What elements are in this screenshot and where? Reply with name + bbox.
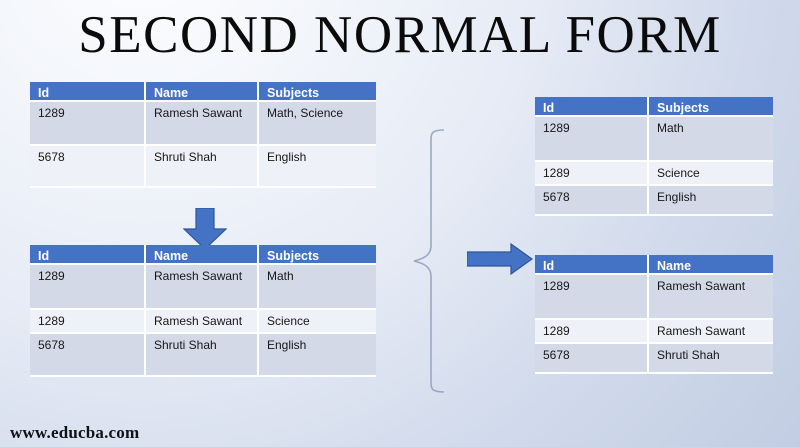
cell-id: 1289 (30, 309, 145, 333)
table-header-row: Id Name Subjects (30, 245, 376, 264)
cell-id: 5678 (535, 185, 648, 215)
cell-id: 1289 (30, 101, 145, 145)
cell-name: Shruti Shah (648, 343, 773, 373)
slide-canvas: SECOND NORMAL FORM Id Name Subjects 1289… (0, 0, 800, 447)
cell-subjects: Math, Science (258, 101, 376, 145)
table-row: 5678 English (535, 185, 773, 215)
column-header-id: Id (535, 255, 648, 274)
table-row: 1289 Ramesh Sawant Math, Science (30, 101, 376, 145)
table-row: 1289 Math (535, 116, 773, 161)
cell-id: 5678 (30, 333, 145, 376)
table-names: Id Name 1289 Ramesh Sawant 1289 Ramesh S… (535, 255, 773, 374)
cell-subjects: Science (648, 161, 773, 185)
cell-id: 1289 (535, 274, 648, 319)
cell-subjects: Math (258, 264, 376, 309)
table-row: 5678 Shruti Shah English (30, 333, 376, 376)
table-row: 1289 Ramesh Sawant (535, 274, 773, 319)
cell-id: 5678 (535, 343, 648, 373)
table-row: 5678 Shruti Shah English (30, 145, 376, 187)
table-subjects: Id Subjects 1289 Math 1289 Science 5678 … (535, 97, 773, 216)
table-original: Id Name Subjects 1289 Ramesh Sawant Math… (30, 82, 376, 188)
cell-name: Ramesh Sawant (648, 274, 773, 319)
cell-subjects: English (258, 333, 376, 376)
column-header-id: Id (30, 82, 145, 101)
table-header-row: Id Name Subjects (30, 82, 376, 101)
cell-name: Ramesh Sawant (145, 309, 258, 333)
column-header-subjects: Subjects (258, 82, 376, 101)
cell-subjects: Math (648, 116, 773, 161)
cell-id: 1289 (30, 264, 145, 309)
cell-id: 1289 (535, 161, 648, 185)
cell-name: Ramesh Sawant (145, 264, 258, 309)
table-row: 1289 Science (535, 161, 773, 185)
cell-name: Ramesh Sawant (648, 319, 773, 343)
table-header-row: Id Subjects (535, 97, 773, 116)
arrow-right-icon (467, 243, 533, 275)
table-row: 1289 Ramesh Sawant Math (30, 264, 376, 309)
page-title: SECOND NORMAL FORM (0, 4, 800, 66)
cell-id: 5678 (30, 145, 145, 187)
cell-id: 1289 (535, 319, 648, 343)
table-header-row: Id Name (535, 255, 773, 274)
cell-subjects: English (258, 145, 376, 187)
arrow-down-icon (183, 208, 227, 250)
cell-id: 1289 (535, 116, 648, 161)
table-row: 1289 Ramesh Sawant Science (30, 309, 376, 333)
curly-brace-icon (400, 128, 456, 394)
column-header-name: Name (145, 245, 258, 264)
column-header-name: Name (648, 255, 773, 274)
column-header-subjects: Subjects (258, 245, 376, 264)
cell-name: Shruti Shah (145, 145, 258, 187)
column-header-subjects: Subjects (648, 97, 773, 116)
cell-name: Ramesh Sawant (145, 101, 258, 145)
table-decomposed: Id Name Subjects 1289 Ramesh Sawant Math… (30, 245, 376, 377)
footer-watermark: www.educba.com (10, 423, 139, 443)
cell-name: Shruti Shah (145, 333, 258, 376)
table-row: 5678 Shruti Shah (535, 343, 773, 373)
cell-subjects: Science (258, 309, 376, 333)
column-header-id: Id (30, 245, 145, 264)
cell-subjects: English (648, 185, 773, 215)
table-row: 1289 Ramesh Sawant (535, 319, 773, 343)
column-header-id: Id (535, 97, 648, 116)
column-header-name: Name (145, 82, 258, 101)
